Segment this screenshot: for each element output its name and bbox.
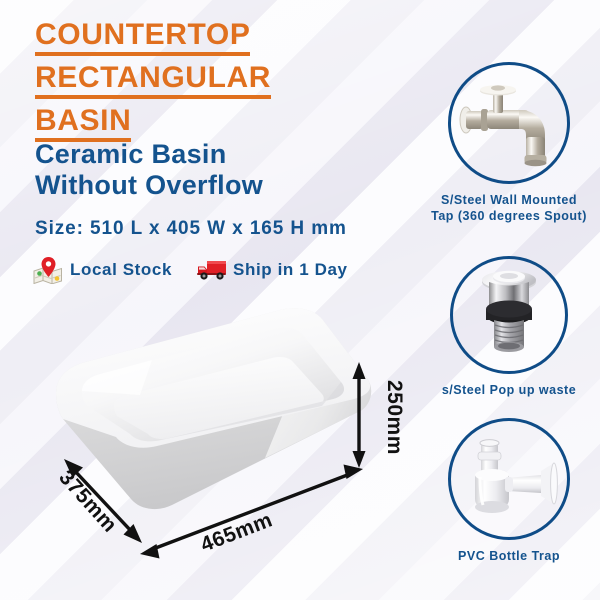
accessory-circle-frame [448,418,570,540]
product-subtitle: Ceramic Basin Without Overflow [35,139,263,200]
subtitle-line-2: Without Overflow [35,170,263,201]
bottle-trap-icon [457,435,561,523]
accessory-caption-tap-line1: S/Steel Wall Mounted [420,193,598,209]
accessory-caption-waste: s/Steel Pop up waste [420,383,598,399]
accessory-circle-frame [448,62,570,184]
accessory-item-waste: s/Steel Pop up waste [418,256,600,399]
left-content-column: COUNTERTOP RECTANGULAR BASIN Ceramic Bas… [0,0,418,600]
accessory-item-bottle-trap: PVC Bottle Trap [418,418,600,565]
headline-line-1: COUNTERTOP [35,20,250,56]
dimension-label-height: 250mm [383,380,406,455]
wall-mounted-tap-icon [457,77,561,169]
product-banner: COUNTERTOP RECTANGULAR BASIN Ceramic Bas… [0,0,600,600]
accessory-caption-tap: S/Steel Wall Mounted Tap (360 degrees Sp… [420,193,598,224]
headline-line-2: RECTANGULAR [35,63,271,99]
badge-local-stock: Local Stock [33,256,172,284]
badge-row: Local Stock [33,256,348,284]
accessories-column: S/Steel Wall Mounted Tap (360 degrees Sp… [418,0,600,600]
pop-up-waste-icon [469,265,549,365]
delivery-truck-icon [196,256,226,284]
badge-ship-in-1-day: Ship in 1 Day [196,256,348,284]
page-title: COUNTERTOP RECTANGULAR BASIN [35,20,405,149]
map-pin-icon [33,256,63,284]
accessory-item-tap: S/Steel Wall Mounted Tap (360 degrees Sp… [418,62,600,224]
badge-local-stock-label: Local Stock [70,260,172,280]
product-size-text: Size: 510 L x 405 W x 165 H mm [35,218,347,240]
accessory-caption-bottle-trap-line1: PVC Bottle Trap [420,549,598,565]
badge-ship-label: Ship in 1 Day [233,260,348,280]
basin-illustration: 250mm 375mm 465mm [22,300,418,590]
dimension-label-depth: 375mm [54,466,121,537]
accessory-circle-frame [450,256,568,374]
accessory-caption-waste-line1: s/Steel Pop up waste [420,383,598,399]
accessory-caption-tap-line2: Tap (360 degrees Spout) [420,209,598,225]
headline-line-3: BASIN [35,106,131,142]
subtitle-line-1: Ceramic Basin [35,139,263,170]
accessory-caption-bottle-trap: PVC Bottle Trap [420,549,598,565]
